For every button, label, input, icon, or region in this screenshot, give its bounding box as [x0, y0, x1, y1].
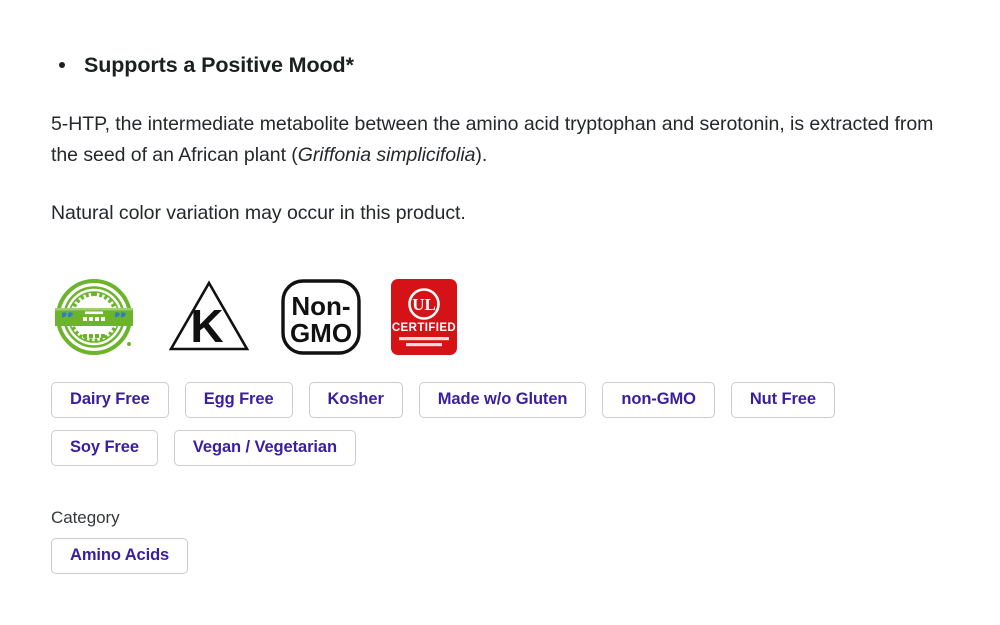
svg-text:CERTIFIED: CERTIFIED	[392, 322, 456, 334]
triangle-k-kosher-badge-icon: K	[165, 277, 253, 362]
product-details-panel: Supports a Positive Mood* 5-HTP, the int…	[0, 0, 1000, 625]
non-gmo-badge-icon: Non- GMO	[279, 277, 363, 362]
claims-list: Supports a Positive Mood*	[40, 52, 960, 79]
tag-pill-non-gmo[interactable]: non-GMO	[602, 382, 714, 418]
claims-section: Supports a Positive Mood*	[40, 0, 960, 79]
ul-certified-badge-icon: UL CERTIFIED	[389, 277, 459, 362]
tag-pill-soy-free[interactable]: Soy Free	[51, 430, 158, 466]
tag-pill-egg-free[interactable]: Egg Free	[185, 382, 293, 418]
description-paragraph-2: Natural color variation may occur in thi…	[40, 198, 960, 230]
kosher-green-seal-badge-icon	[51, 277, 139, 362]
svg-text:Non-: Non-	[291, 291, 350, 321]
description-paragraph-1: 5-HTP, the intermediate metabolite betwe…	[40, 109, 960, 172]
certification-badges: K Non- GMO UL CERTIFIED	[40, 276, 960, 362]
botanical-name: Griffonia simplicifolia	[298, 144, 476, 166]
category-tags-row: Amino Acids	[51, 538, 960, 574]
description-text-lead: 5-HTP, the intermediate metabolite betwe…	[51, 113, 933, 167]
category-section: Category Amino Acids	[40, 508, 960, 574]
tag-pill-nut-free[interactable]: Nut Free	[731, 382, 835, 418]
category-pill-amino-acids[interactable]: Amino Acids	[51, 538, 188, 574]
svg-text:GMO: GMO	[290, 318, 352, 348]
attribute-tags-section: Dairy Free Egg Free Kosher Made w/o Glut…	[40, 382, 960, 466]
tag-pill-dairy-free[interactable]: Dairy Free	[51, 382, 169, 418]
svg-text:UL: UL	[412, 295, 436, 314]
category-label: Category	[51, 508, 960, 528]
claim-item: Supports a Positive Mood*	[40, 52, 960, 79]
description-text-tail: ).	[475, 144, 487, 166]
tag-pill-kosher[interactable]: Kosher	[309, 382, 403, 418]
tag-pill-vegan-vegetarian[interactable]: Vegan / Vegetarian	[174, 430, 356, 466]
tag-pill-made-wo-gluten[interactable]: Made w/o Gluten	[419, 382, 587, 418]
attribute-tags-row-2: Soy Free Vegan / Vegetarian	[51, 430, 960, 466]
svg-text:K: K	[190, 300, 223, 352]
attribute-tags-row-1: Dairy Free Egg Free Kosher Made w/o Glut…	[51, 382, 960, 418]
